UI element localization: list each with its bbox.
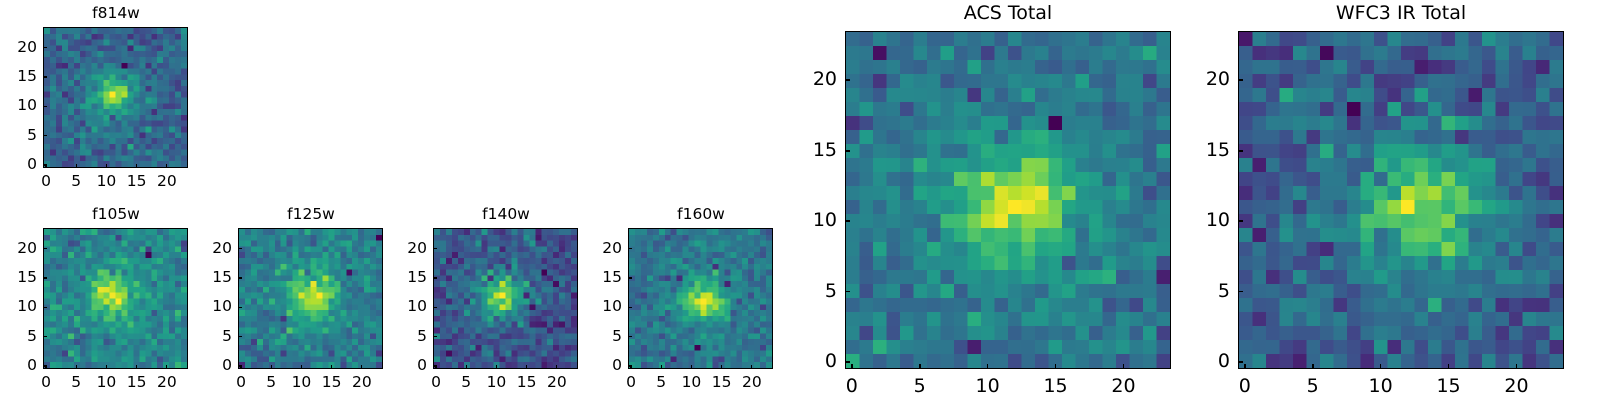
xtick-label-f125w-5: 5 [254,375,288,391]
ytick-acs-total-0 [845,361,850,363]
ytick-label-f125w-0: 0 [198,358,232,374]
ytick-label-f105w-5: 5 [3,329,37,345]
xtick-acs-total-0 [851,364,853,369]
ytick-f105w-20 [43,248,47,249]
ytick-label-f160w-15: 15 [588,270,622,286]
xtick-f125w-15 [331,365,332,369]
xtick-f160w-10 [691,365,692,369]
ytick-label-f160w-5: 5 [588,329,622,345]
xtick-label-f814w-15: 15 [120,174,154,190]
xtick-f125w-20 [361,365,362,369]
ytick-label-f105w-0: 0 [3,358,37,374]
ytick-f140w-15 [433,277,437,278]
xtick-f140w-20 [556,365,557,369]
ytick-label-wfc3-ir-total-0: 0 [1186,352,1230,371]
xtick-label-f105w-5: 5 [59,375,93,391]
axes-f140w [433,228,578,369]
heatmap-image-f105w [44,229,187,368]
xtick-f105w-15 [136,365,137,369]
ytick-f105w-15 [43,277,47,278]
ytick-label-f105w-20: 20 [3,241,37,257]
xtick-label-acs-total-20: 20 [1101,377,1145,396]
xtick-label-f814w-0: 0 [29,174,63,190]
panel-title-f105w: f105w [16,207,216,223]
ytick-label-f140w-5: 5 [393,329,427,345]
heatmap-image-f125w [239,229,382,368]
xtick-label-f814w-10: 10 [89,174,123,190]
xtick-f105w-20 [166,365,167,369]
xtick-label-f160w-15: 15 [705,375,739,391]
ytick-f125w-0 [238,365,242,366]
xtick-label-f140w-20: 20 [540,375,574,391]
ytick-label-f160w-20: 20 [588,241,622,257]
xtick-label-acs-total-10: 10 [966,377,1010,396]
ytick-f814w-5 [43,135,47,136]
axes-f814w [43,27,188,168]
ytick-label-f105w-15: 15 [3,270,37,286]
ytick-label-f814w-0: 0 [3,157,37,173]
xtick-f125w-5 [271,365,272,369]
ytick-label-acs-total-20: 20 [793,70,837,89]
ytick-wfc3-ir-total-15 [1238,150,1243,152]
xtick-acs-total-10 [987,364,989,369]
xtick-label-f105w-20: 20 [150,375,184,391]
ytick-label-wfc3-ir-total-5: 5 [1186,282,1230,301]
ytick-f105w-5 [43,336,47,337]
xtick-f160w-20 [751,365,752,369]
xtick-f814w-10 [106,164,107,168]
ytick-label-f140w-0: 0 [393,358,427,374]
panel-title-f125w: f125w [211,207,411,223]
ytick-label-f160w-0: 0 [588,358,622,374]
ytick-label-f125w-10: 10 [198,299,232,315]
ytick-acs-total-20 [845,79,850,81]
ytick-label-f814w-15: 15 [3,69,37,85]
ytick-f125w-20 [238,248,242,249]
xtick-f160w-5 [661,365,662,369]
ytick-f140w-10 [433,307,437,308]
panel-title-wfc3-ir-total: WFC3 IR Total [1238,4,1564,23]
xtick-label-f105w-15: 15 [120,375,154,391]
ytick-f160w-0 [628,365,632,366]
xtick-label-wfc3-ir-total-15: 15 [1427,377,1471,396]
ytick-label-f814w-5: 5 [3,128,37,144]
xtick-wfc3-ir-total-15 [1448,364,1450,369]
ytick-acs-total-5 [845,291,850,293]
xtick-acs-total-15 [1055,364,1057,369]
ytick-label-f105w-10: 10 [3,299,37,315]
heatmap-image-acs-total [846,32,1170,368]
panel-title-f814w: f814w [16,6,216,22]
axes-wfc3-ir-total [1238,31,1564,369]
heatmap-image-f814w [44,28,187,167]
figure-canvas: f814w0510152005101520f105w05101520051015… [0,0,1600,400]
heatmap-image-f160w [629,229,772,368]
ytick-wfc3-ir-total-20 [1238,79,1243,81]
xtick-label-f125w-20: 20 [345,375,379,391]
ytick-label-wfc3-ir-total-20: 20 [1186,70,1230,89]
xtick-label-f140w-15: 15 [510,375,544,391]
axes-acs-total [845,31,1171,369]
xtick-label-f105w-10: 10 [89,375,123,391]
xtick-f105w-10 [106,365,107,369]
xtick-label-wfc3-ir-total-5: 5 [1291,377,1335,396]
ytick-wfc3-ir-total-5 [1238,291,1243,293]
xtick-acs-total-5 [919,364,921,369]
xtick-label-wfc3-ir-total-10: 10 [1359,377,1403,396]
xtick-label-wfc3-ir-total-20: 20 [1494,377,1538,396]
heatmap-image-wfc3-ir-total [1239,32,1563,368]
xtick-f814w-20 [166,164,167,168]
xtick-label-acs-total-0: 0 [830,377,874,396]
xtick-label-f160w-0: 0 [614,375,648,391]
xtick-label-f125w-0: 0 [224,375,258,391]
xtick-label-f160w-10: 10 [674,375,708,391]
xtick-label-f140w-0: 0 [419,375,453,391]
xtick-wfc3-ir-total-5 [1312,364,1314,369]
ytick-f125w-5 [238,336,242,337]
ytick-label-f125w-15: 15 [198,270,232,286]
xtick-label-acs-total-5: 5 [898,377,942,396]
xtick-label-f814w-5: 5 [59,174,93,190]
ytick-f160w-15 [628,277,632,278]
ytick-label-f125w-20: 20 [198,241,232,257]
ytick-f814w-15 [43,76,47,77]
ytick-acs-total-10 [845,220,850,222]
ytick-label-f140w-10: 10 [393,299,427,315]
ytick-f160w-10 [628,307,632,308]
ytick-label-f814w-10: 10 [3,98,37,114]
panel-title-f140w: f140w [406,207,606,223]
ytick-f160w-5 [628,336,632,337]
ytick-label-acs-total-0: 0 [793,352,837,371]
xtick-label-f125w-15: 15 [315,375,349,391]
ytick-f814w-20 [43,47,47,48]
ytick-f140w-5 [433,336,437,337]
ytick-label-acs-total-10: 10 [793,211,837,230]
xtick-acs-total-20 [1123,364,1125,369]
ytick-wfc3-ir-total-10 [1238,220,1243,222]
ytick-f814w-0 [43,164,47,165]
xtick-label-wfc3-ir-total-0: 0 [1223,377,1267,396]
xtick-f105w-5 [76,365,77,369]
ytick-f140w-20 [433,248,437,249]
panel-title-f160w: f160w [601,207,801,223]
xtick-f160w-15 [721,365,722,369]
xtick-wfc3-ir-total-20 [1516,364,1518,369]
heatmap-image-f140w [434,229,577,368]
panel-title-acs-total: ACS Total [845,4,1171,23]
ytick-f105w-0 [43,365,47,366]
ytick-label-acs-total-5: 5 [793,282,837,301]
xtick-label-f105w-0: 0 [29,375,63,391]
ytick-label-wfc3-ir-total-15: 15 [1186,141,1230,160]
ytick-label-f814w-20: 20 [3,40,37,56]
xtick-f814w-15 [136,164,137,168]
ytick-label-wfc3-ir-total-10: 10 [1186,211,1230,230]
axes-f160w [628,228,773,369]
ytick-label-acs-total-15: 15 [793,141,837,160]
ytick-f125w-15 [238,277,242,278]
ytick-label-f160w-10: 10 [588,299,622,315]
ytick-label-f140w-15: 15 [393,270,427,286]
xtick-label-acs-total-15: 15 [1034,377,1078,396]
ytick-f105w-10 [43,307,47,308]
ytick-f140w-0 [433,365,437,366]
xtick-f140w-5 [466,365,467,369]
ytick-f814w-10 [43,106,47,107]
xtick-label-f125w-10: 10 [284,375,318,391]
xtick-label-f160w-5: 5 [644,375,678,391]
ytick-label-f125w-5: 5 [198,329,232,345]
xtick-f125w-10 [301,365,302,369]
ytick-wfc3-ir-total-0 [1238,361,1243,363]
ytick-f125w-10 [238,307,242,308]
xtick-label-f814w-20: 20 [150,174,184,190]
ytick-label-f140w-20: 20 [393,241,427,257]
xtick-wfc3-ir-total-10 [1380,364,1382,369]
xtick-f140w-15 [526,365,527,369]
xtick-f814w-5 [76,164,77,168]
ytick-f160w-20 [628,248,632,249]
xtick-wfc3-ir-total-0 [1244,364,1246,369]
ytick-acs-total-15 [845,150,850,152]
xtick-f140w-10 [496,365,497,369]
axes-f105w [43,228,188,369]
xtick-label-f160w-20: 20 [735,375,769,391]
axes-f125w [238,228,383,369]
xtick-label-f140w-5: 5 [449,375,483,391]
xtick-label-f140w-10: 10 [479,375,513,391]
